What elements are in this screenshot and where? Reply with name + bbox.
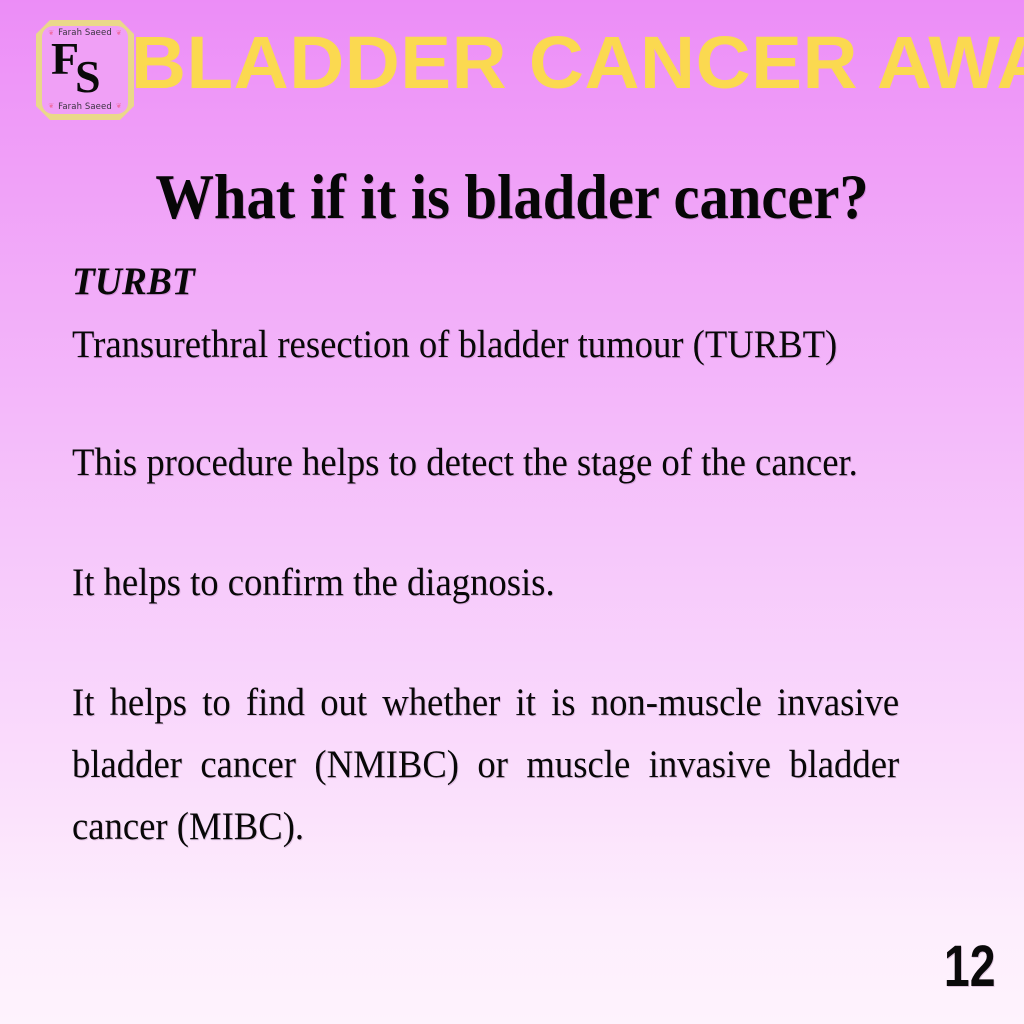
brand-logo-inner: ❦ Farah Saeed ❦ ❦ Farah Saeed ❦ F S xyxy=(42,26,128,114)
spacer xyxy=(72,614,952,672)
paragraph-diagnosis: It helps to confirm the diagnosis. xyxy=(72,552,899,614)
section-label-turbt: TURBT xyxy=(72,258,917,306)
monogram-letter-f: F xyxy=(51,36,77,82)
page-number: 12 xyxy=(944,938,996,996)
slide-canvas: ❦ Farah Saeed ❦ ❦ Farah Saeed ❦ F S BLAD… xyxy=(0,0,1024,1024)
spacer xyxy=(72,376,952,432)
header-banner: ❦ Farah Saeed ❦ ❦ Farah Saeed ❦ F S BLAD… xyxy=(0,0,1024,140)
paragraph-definition: Transurethral resection of bladder tumou… xyxy=(72,314,899,376)
brand-logo: ❦ Farah Saeed ❦ ❦ Farah Saeed ❦ F S xyxy=(36,20,134,120)
paragraph-nmibc-mibc: It helps to find out whether it is non-m… xyxy=(72,672,899,858)
content-body: TURBT Transurethral resection of bladder… xyxy=(72,258,952,858)
spacer xyxy=(72,494,952,552)
paragraph-staging: This procedure helps to detect the stage… xyxy=(72,432,899,494)
banner-title: BLADDER CANCER AWARENESS xyxy=(131,18,1024,108)
monogram-letter-s: S xyxy=(75,54,101,100)
brand-monogram: F S xyxy=(42,36,128,106)
page-title: What if it is bladder cancer? xyxy=(36,158,988,236)
